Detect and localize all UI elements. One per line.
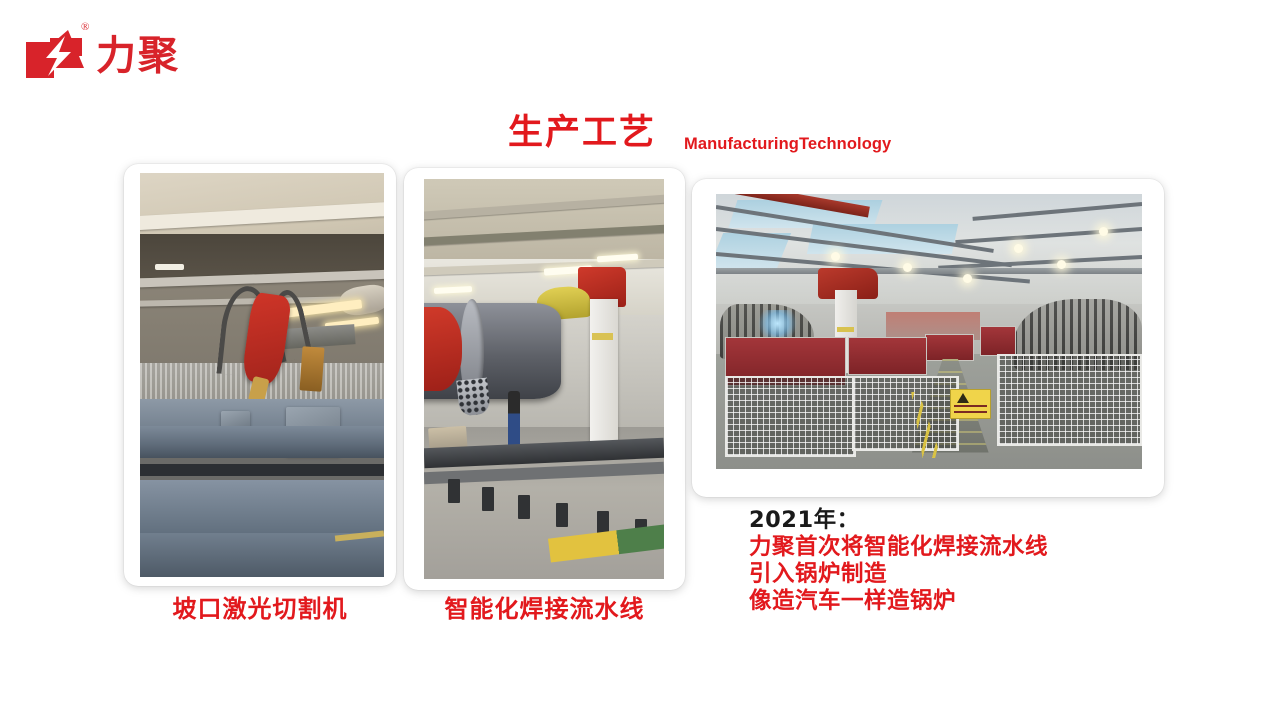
page-title-zh: 生产工艺 xyxy=(508,113,656,153)
brand-logo: ® 力聚 xyxy=(24,22,284,84)
note-line-1: 力聚首次将智能化焊接流水线 xyxy=(749,534,1149,561)
intelligent-welding-assembly-hall-photo xyxy=(716,194,1142,469)
note-block: 2021年： 力聚首次将智能化焊接流水线 引入锅炉制造 像造汽车一样造锅炉 xyxy=(749,507,1149,615)
bevel-laser-cutting-machine-photo xyxy=(140,173,384,577)
note-line-3: 像造汽车一样造锅炉 xyxy=(749,588,1149,615)
photo-caption-2: 智能化焊接流水线 xyxy=(404,594,685,624)
photo-card-3: 智能化焊接流水线 xyxy=(692,179,1164,497)
note-year: 2021年： xyxy=(749,507,1149,534)
page-title-en: ManufacturingTechnology xyxy=(684,134,891,154)
brand-name: 力聚 xyxy=(96,34,180,78)
photo-card-1 xyxy=(124,164,396,586)
photo-card-2 xyxy=(404,168,685,590)
photo-caption-1: 坡口激光切割机 xyxy=(124,594,396,624)
lightning-bolt-logo-icon xyxy=(24,28,90,80)
warning-sign-icon xyxy=(950,389,990,419)
note-line-2: 引入锅炉制造 xyxy=(749,561,1149,588)
intelligent-welding-line-photo xyxy=(424,179,664,579)
registered-mark: ® xyxy=(81,22,89,33)
